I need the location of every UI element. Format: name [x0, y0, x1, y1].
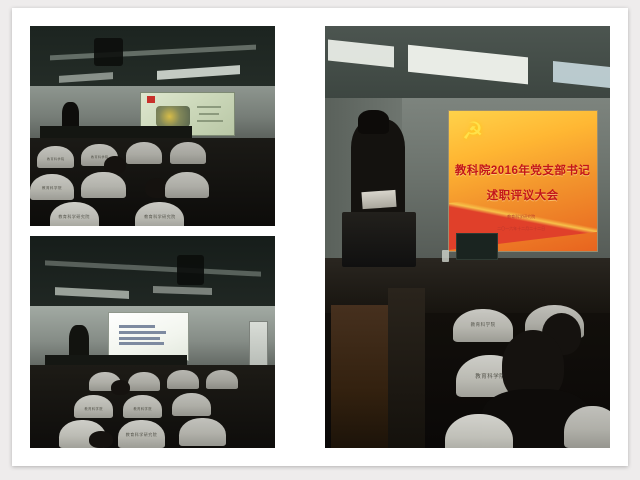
chair-cover-text: 教育科学院: [74, 406, 113, 411]
slide-text-line: [119, 337, 160, 340]
chair-cover: [170, 142, 207, 164]
seat-row-divider: [388, 288, 425, 448]
slide-footer-line2: 二〇一六年十二月二十二日: [463, 226, 579, 232]
collage-paper-frame: 教育科学院 教育科学院 教育科学院 教育科学研究院 教育科学研究院: [12, 8, 628, 466]
chair-cover: 教育科学研究院: [50, 202, 99, 226]
lecture-hall-scene: 教育科学院 教育科学院 教育科学研究院: [30, 236, 275, 448]
lecture-hall-scene: 教育科学院 教育科学院 教育科学院 教育科学研究院 教育科学研究院: [30, 26, 275, 226]
speaker-cap: [358, 110, 389, 133]
chair-cover-text: 教育科学研究院: [50, 214, 99, 220]
slide-text-line: [119, 331, 166, 334]
slide-text-line: [119, 342, 164, 345]
slide-title-line2: 述职评议大会: [454, 187, 590, 203]
chair-cover-text: 教育科学院: [123, 406, 162, 411]
slide-title-line1: 教科院2016年党支部书记: [454, 162, 590, 178]
chair-cover: 教育科学院: [123, 395, 162, 418]
chair-cover: [172, 393, 211, 416]
speaker-podium: [342, 212, 416, 267]
slide-illustration: [156, 106, 190, 128]
chair-cover: 教育科学研究院: [118, 420, 165, 448]
photo-auditorium-angle-shot[interactable]: 教育科学院 教育科学院 教育科学研究院: [30, 236, 275, 448]
slide-text-block: [199, 113, 219, 115]
photo-speaker-at-podium[interactable]: ☭ 教科院2016年党支部书记 述职评议大会 教育科学研究院 二〇一六年十二月二…: [325, 26, 610, 448]
ceiling-projector: [94, 38, 123, 66]
chair-cover: [179, 418, 226, 446]
chair-cover: 教育科学院: [74, 395, 113, 418]
projection-screen: [108, 312, 188, 361]
attendee-head: [111, 380, 131, 395]
slide-text-block: [197, 120, 223, 122]
chair-cover: 教育科学院: [453, 309, 513, 343]
slide-footer-line1: 教育科学研究院: [463, 214, 579, 220]
stage-monitor: [456, 233, 498, 260]
chair-cover: [81, 172, 125, 198]
ceiling-projector: [177, 255, 204, 285]
chair-cover: [128, 372, 160, 391]
chair-cover: [167, 370, 199, 389]
projection-screen: ☭ 教科院2016年党支部书记 述职评议大会 教育科学研究院 二〇一六年十二月二…: [448, 110, 598, 251]
chair-cover: 教育科学院: [37, 146, 74, 168]
slide-logo: [147, 96, 155, 103]
chair-cover: 教育科学院: [30, 174, 74, 200]
podium-scene: ☭ 教科院2016年党支部书记 述职评议大会 教育科学研究院 二〇一六年十二月二…: [325, 26, 610, 448]
attendee-head: [89, 431, 114, 448]
chair-cover-text: 教育科学院: [453, 322, 513, 328]
speech-papers: [361, 189, 396, 208]
slide-text-block: [197, 106, 221, 108]
chair-cover: [165, 172, 209, 198]
chair-cover-text: 教育科学院: [37, 157, 74, 161]
chair-cover: [126, 142, 163, 164]
photo-collage: 教育科学院 教育科学院 教育科学院 教育科学研究院 教育科学研究院: [0, 0, 640, 480]
chair-cover-text: 教育科学研究院: [135, 214, 184, 220]
slide-text-line: [119, 325, 155, 328]
chair-cover-text: 教育科学研究院: [118, 432, 165, 438]
photo-auditorium-wide-shot[interactable]: 教育科学院 教育科学院 教育科学院 教育科学研究院 教育科学研究院: [30, 26, 275, 226]
chair-cover-text: 教育科学院: [30, 186, 74, 191]
water-bottle: [442, 250, 449, 263]
party-emblem-icon: ☭: [462, 120, 495, 156]
